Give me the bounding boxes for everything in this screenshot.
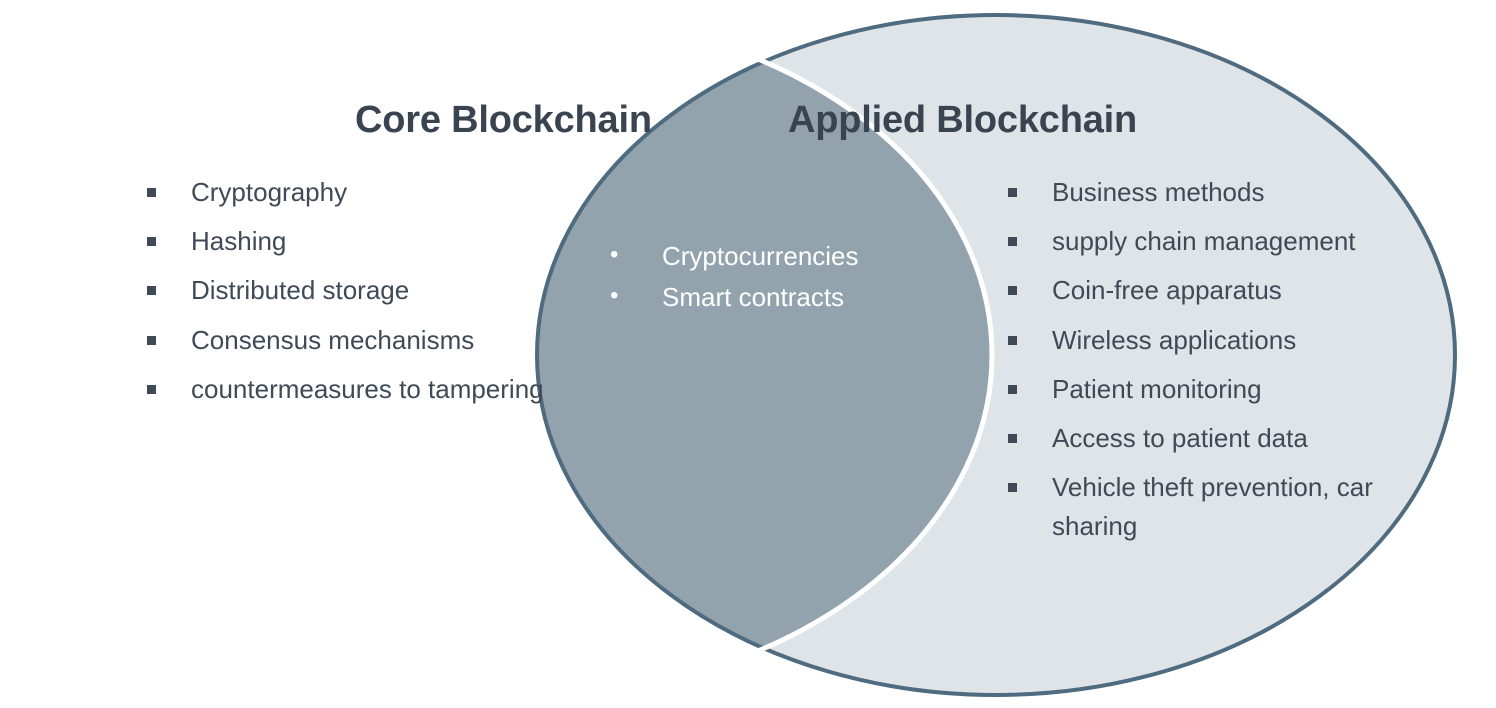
list-item: Hashing [139,222,569,260]
left-set-list: Cryptography Hashing Distributed storage… [139,173,569,408]
list-item: Patient monitoring [1000,370,1400,408]
list-item: Wireless applications [1000,321,1400,359]
right-set-title: Applied Blockchain [788,101,1137,141]
right-set-list: Business methods supply chain management… [1000,173,1400,545]
list-item: Smart contracts [600,279,930,317]
list-item: supply chain management [1000,222,1400,260]
venn-diagram-canvas: Core Blockchain Applied Blockchain Crypt… [0,0,1496,708]
list-item: countermeasures to tampering [139,370,569,408]
list-item: Distributed storage [139,271,569,309]
left-set-title: Core Blockchain [355,101,652,141]
list-item: Vehicle theft prevention, car sharing [1000,468,1400,544]
list-item: Cryptography [139,173,569,211]
list-item: Coin-free apparatus [1000,271,1400,309]
list-item: Cryptocurrencies [600,238,930,276]
list-item: Consensus mechanisms [139,321,569,359]
list-item: Access to patient data [1000,419,1400,457]
list-item: Business methods [1000,173,1400,211]
intersection-list: Cryptocurrencies Smart contracts [600,238,930,320]
